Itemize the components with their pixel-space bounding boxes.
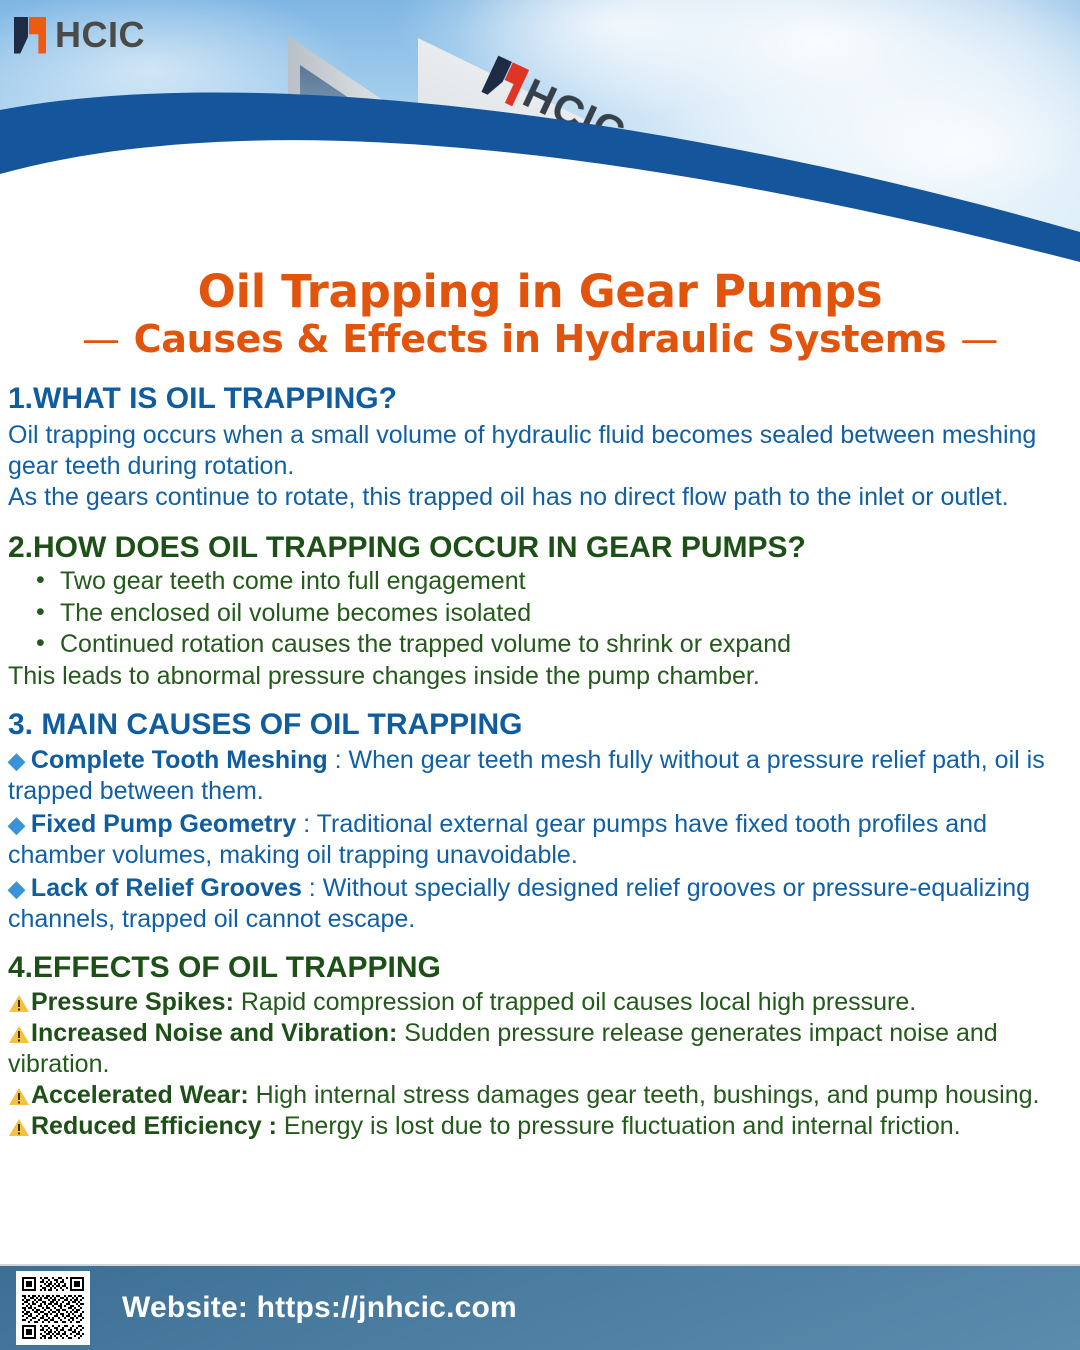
effect-term: Pressure Spikes: (31, 988, 234, 1016)
section-1-paragraph-2: As the gears continue to rotate, this tr… (8, 482, 1072, 513)
brand-wordmark: HCIC (55, 14, 145, 56)
footer-bar: Website: https://jnhcic.com (0, 1264, 1080, 1350)
effect-term: Reduced Efficiency : (31, 1112, 277, 1140)
section-main-causes: 3. MAIN CAUSES OF OIL TRAPPING ◆Complete… (8, 708, 1072, 936)
page-title: Oil Trapping in Gear Pumps (0, 268, 1080, 315)
section-2-closing: This leads to abnormal pressure changes … (8, 661, 1072, 692)
page-subtitle-row: — Causes & Effects in Hydraulic Systems … (0, 320, 1080, 360)
cause-separator: : (328, 746, 349, 774)
cause-separator: : (302, 874, 323, 902)
title-block: Oil Trapping in Gear Pumps — Causes & Ef… (0, 268, 1080, 360)
cause-term: Fixed Pump Geometry (31, 810, 296, 838)
section-1-heading: 1.WHAT IS OIL TRAPPING? (8, 382, 1072, 416)
dash-right-icon: — (960, 320, 998, 360)
section-2-bullet-list: Two gear teeth come into full engagement… (8, 566, 1072, 661)
section-2-heading: 2.HOW DOES OIL TRAPPING OCCUR IN GEAR PU… (8, 531, 1072, 565)
diamond-bullet-icon: ◆ (8, 748, 25, 773)
warning-triangle-icon (8, 1118, 30, 1137)
warning-triangle-icon (8, 1087, 30, 1106)
section-1-paragraph-1: Oil trapping occurs when a small volume … (8, 420, 1072, 482)
diamond-bullet-icon: ◆ (8, 812, 25, 837)
list-item: Continued rotation causes the trapped vo… (8, 629, 1072, 661)
section-4-heading: 4.EFFECTS OF OIL TRAPPING (8, 951, 1072, 985)
cause-separator: : (296, 810, 316, 838)
warning-triangle-icon (8, 994, 30, 1013)
qr-code-icon[interactable] (16, 1271, 90, 1345)
effect-text: High internal stress damages gear teeth,… (249, 1081, 1040, 1109)
content-body: 1.WHAT IS OIL TRAPPING? Oil trapping occ… (0, 382, 1080, 1142)
blue-wave-divider (0, 82, 1080, 262)
section-3-heading: 3. MAIN CAUSES OF OIL TRAPPING (8, 708, 1072, 742)
cause-item: ◆Fixed Pump Geometry : Traditional exter… (8, 809, 1072, 871)
effect-item: Reduced Efficiency : Energy is lost due … (8, 1111, 1072, 1142)
cause-term: Complete Tooth Meshing (31, 746, 328, 774)
brand-logo: HCIC (14, 14, 145, 56)
cause-item: ◆Lack of Relief Grooves : Without specia… (8, 873, 1072, 935)
header-banner: HCIC 华海液压 (0, 0, 1080, 262)
section-effects: 4.EFFECTS OF OIL TRAPPING Pressure Spike… (8, 951, 1072, 1142)
diamond-bullet-icon: ◆ (8, 876, 25, 901)
effect-item: Accelerated Wear: High internal stress d… (8, 1080, 1072, 1111)
list-item: The enclosed oil volume becomes isolated (8, 598, 1072, 630)
warning-triangle-icon (8, 1025, 30, 1044)
website-link[interactable]: Website: https://jnhcic.com (122, 1291, 517, 1325)
cause-item: ◆Complete Tooth Meshing : When gear teet… (8, 745, 1072, 807)
dash-left-icon: — (82, 320, 120, 360)
effect-item: Increased Noise and Vibration: Sudden pr… (8, 1018, 1072, 1080)
hcic-mark-icon (14, 17, 46, 54)
effect-term: Increased Noise and Vibration: (31, 1019, 397, 1047)
effect-item: Pressure Spikes: Rapid compression of tr… (8, 987, 1072, 1018)
effect-text: Rapid compression of trapped oil causes … (234, 988, 916, 1016)
section-how-oil-trapping-occurs: 2.HOW DOES OIL TRAPPING OCCUR IN GEAR PU… (8, 531, 1072, 692)
page-subtitle: Causes & Effects in Hydraulic Systems (134, 320, 947, 360)
section-what-is-oil-trapping: 1.WHAT IS OIL TRAPPING? Oil trapping occ… (8, 382, 1072, 513)
list-item: Two gear teeth come into full engagement (8, 566, 1072, 598)
effect-text: Energy is lost due to pressure fluctuati… (277, 1112, 961, 1140)
cause-term: Lack of Relief Grooves (31, 874, 302, 902)
effect-term: Accelerated Wear: (31, 1081, 249, 1109)
